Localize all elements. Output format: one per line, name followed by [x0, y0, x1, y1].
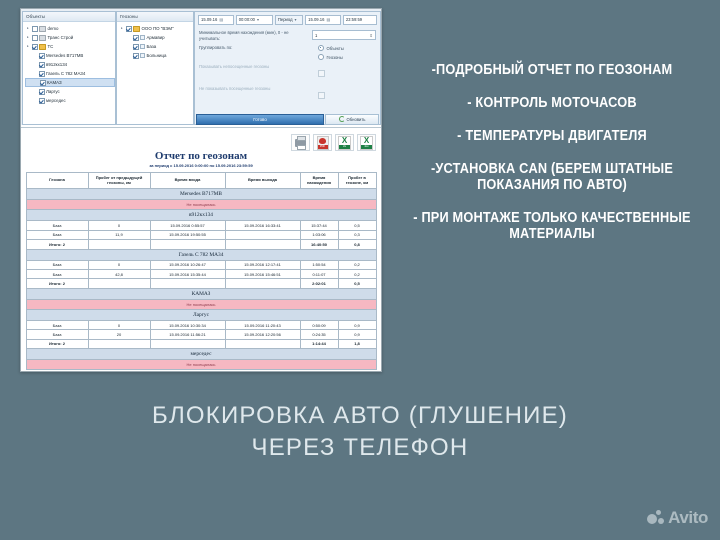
report-subtitle: за период с 15.09.2016 0:00:00 по 15.09.…	[21, 163, 381, 168]
geozone-tree-item[interactable]: ▸ООО ПО "ВЭМ"	[119, 24, 193, 33]
tagline-line-2: ЧЕРЕЗ ТЕЛЕФОН	[0, 432, 720, 464]
table-group-row: Mersedes B717MB	[26, 189, 376, 200]
table-column-header: Время выхода	[225, 173, 300, 189]
table-total-cell	[88, 279, 150, 288]
table-total-cell: 2:02:01	[300, 279, 338, 288]
chevron-down-icon[interactable]: ▾	[257, 16, 259, 24]
table-group-row: КАМАЗ	[26, 288, 376, 299]
table-cell: 0,2	[338, 260, 376, 269]
table-column-header: Пробег в геозоне, км	[338, 173, 376, 189]
table-body: Mersedes B717MBНе посещаласьв912кх134Баз…	[26, 189, 376, 370]
table-total-cell: Итого: 2	[26, 339, 88, 348]
checkbox-icon[interactable]	[39, 71, 45, 77]
checkbox-icon[interactable]	[32, 44, 38, 50]
geozone-tree-item-label: Армавир	[147, 33, 165, 42]
group-name: Ларгус	[26, 309, 376, 320]
radio-option-objects[interactable]: Объекты	[318, 45, 376, 51]
parameters-button-bar: Готово Обновить	[195, 114, 380, 124]
not-visited-row: Не посещалась	[26, 359, 376, 369]
done-button[interactable]: Готово	[196, 114, 324, 125]
geozones-panel: Геозоны ▸ООО ПО "ВЭМ"АрмавирБазаБольница	[116, 11, 194, 125]
avito-watermark: Avito	[647, 508, 708, 528]
refresh-button-label: Обновить	[347, 117, 366, 122]
table-cell: База	[26, 221, 88, 230]
table-cell: 15.09.2016 15:35:44	[150, 269, 225, 278]
print-icon[interactable]	[291, 134, 310, 151]
calendar-icon[interactable]: ▤	[219, 16, 223, 24]
excel-xls-icon[interactable]: Xxls	[335, 134, 354, 151]
report-area: Xxls Xxlsx Отчет по геозонам за период с…	[21, 127, 381, 372]
checkbox-icon[interactable]	[39, 98, 45, 104]
geozone-tree-item-label: Больница	[147, 51, 167, 60]
radio-icon[interactable]	[318, 54, 324, 60]
time-from-input[interactable]: 00:00:00 ▾	[236, 15, 273, 25]
table-cell: База	[26, 330, 88, 339]
object-tree-item-label: Транс Строй	[48, 33, 74, 42]
table-total-cell: 16:40:50	[300, 240, 338, 249]
folder-icon	[39, 44, 46, 50]
time-to-value: 23:59:59	[346, 16, 362, 24]
show-unvisited-row[interactable]: Показывать непосещенные геозоны	[199, 64, 376, 82]
table-cell: 15.09.2016 10:30:34	[150, 320, 225, 329]
promo-bullet: - КОНТРОЛЬ МОТОЧАСОВ	[411, 95, 693, 111]
object-tree-item[interactable]: КАМАЗ	[25, 78, 115, 87]
geozone-tree-item-label: ООО ПО "ВЭМ"	[142, 24, 174, 33]
table-cell: 15.09.2016 11:56:21	[150, 330, 225, 339]
time-from-value: 00:00:00	[239, 16, 255, 24]
date-to-input[interactable]: 15.09.16 ▤	[305, 15, 341, 25]
table-total-cell	[150, 279, 225, 288]
object-tree-item-label: КАМАЗ	[47, 79, 62, 86]
group-name: мерседес	[26, 348, 376, 359]
radio-option-geozones[interactable]: Геозоны	[318, 54, 376, 60]
folder-icon	[133, 26, 140, 32]
table-row: База015.09.2016 10:30:3415.09.2016 11:20…	[26, 320, 376, 329]
geozone-tree-item[interactable]: Армавир	[119, 33, 193, 42]
group-name: в912кх134	[26, 210, 376, 221]
table-cell: 15.09.2016 0:55:57	[150, 221, 225, 230]
not-visited-row: Не посещалась	[26, 299, 376, 309]
table-group-row: Ларгус	[26, 309, 376, 320]
table-cell: 0	[88, 260, 150, 269]
min-stay-stepper[interactable]: 1 ⇳	[312, 30, 376, 40]
table-cell: 15.09.2016 15:46:51	[225, 269, 300, 278]
table-cell: 15:37:44	[300, 221, 338, 230]
promo-bullet: -УСТАНОВКА CAN (БЕРЕМ ШТАТНЫЕ ПОКАЗАНИЯ …	[411, 161, 693, 193]
refresh-icon	[339, 116, 345, 122]
geozones-panel-header: Геозоны	[117, 12, 193, 22]
checkbox-icon[interactable]	[39, 62, 45, 68]
geozone-icon	[140, 44, 145, 49]
table-total-cell	[225, 240, 300, 249]
excel-xlsx-label: xlsx	[361, 145, 372, 149]
expand-arrow-icon[interactable]: ▸	[121, 24, 124, 33]
geozone-tree-item-label: База	[147, 42, 157, 51]
app-toolbar-area: Объекты ▸demo▸Транс Строй▸ТСMersedes B71…	[21, 9, 381, 125]
not-visited-label: Не посещалась	[26, 200, 376, 210]
radio-option-objects-label: Объекты	[327, 46, 344, 51]
avito-logo-icon	[647, 510, 664, 526]
group-name: Газель С 782 МА34	[26, 249, 376, 260]
object-tree-item[interactable]: ▸demo	[25, 24, 115, 33]
period-label: Период	[278, 16, 293, 24]
table-total-cell: 1,8	[338, 339, 376, 348]
table-cell: 15.09.2016 10:26:47	[150, 260, 225, 269]
excel-xls-label: xls	[339, 145, 350, 149]
checkbox-icon[interactable]	[39, 89, 45, 95]
show-unvisited-label: Показывать непосещенные геозоны	[199, 64, 269, 70]
table-total-cell: 1:14:44	[300, 339, 338, 348]
table-column-header: Пробег от предыдущей геозоны, км	[88, 173, 150, 189]
object-tree-item-label: demo	[48, 24, 59, 33]
not-visited-label: Не посещалась	[26, 299, 376, 309]
geozone-tree-item[interactable]: База	[119, 42, 193, 51]
table-cell: 15.09.2016 16:33:41	[225, 221, 300, 230]
table-column-header: Геозона	[26, 173, 88, 189]
geozone-tree-item[interactable]: Больница	[119, 51, 193, 60]
min-stay-value: 1	[315, 33, 317, 38]
folder-icon	[39, 35, 46, 41]
table-total-cell: 0,5	[338, 279, 376, 288]
object-tree-item[interactable]: Газель С 782 МА34	[25, 69, 115, 78]
table-group-row: в912кх134	[26, 210, 376, 221]
table-cell: 0,9	[338, 320, 376, 329]
objects-tree[interactable]: ▸demo▸Транс Строй▸ТСMersedes B717MBв912к…	[23, 22, 115, 105]
table-cell: 20	[88, 330, 150, 339]
show-unvisited-checkbox[interactable]	[318, 70, 325, 77]
object-tree-item-label: ТС	[48, 42, 54, 51]
report-parameters-panel: 15.09.16 ▤ 00:00:00 ▾ Период ▾ 15.09.16 …	[194, 11, 381, 125]
promo-bullet-list: -ПОДРОБНЫЙ ОТЧЕТ ПО ГЕОЗОНАМ- КОНТРОЛЬ М…	[392, 62, 712, 259]
checkbox-icon[interactable]	[133, 44, 139, 50]
table-cell	[225, 230, 300, 239]
expand-arrow-icon[interactable]: ▸	[27, 33, 30, 42]
object-tree-item[interactable]: мерседес	[25, 96, 115, 105]
min-stay-row: Минимальное время нахождения (мин), 0 - …	[199, 30, 376, 41]
table-cell: 0	[88, 320, 150, 329]
table-cell: 0:50:09	[300, 320, 338, 329]
hide-visited-checkbox[interactable]	[318, 92, 325, 99]
hide-visited-row[interactable]: Не показывать посещенные геозоны	[199, 86, 376, 104]
checkbox-icon[interactable]	[39, 53, 45, 59]
table-cell: 15.09.2016 12:17:41	[225, 260, 300, 269]
object-tree-item[interactable]: ▸ТС	[25, 42, 115, 51]
table-total-cell: Итого: 2	[26, 240, 88, 249]
group-name: КАМАЗ	[26, 288, 376, 299]
export-toolbar: Xxls Xxlsx	[291, 134, 376, 151]
time-to-input[interactable]: 23:59:59	[343, 15, 377, 25]
table-column-header: Время нахождения	[300, 173, 338, 189]
object-tree-item-label: в912кх134	[46, 60, 67, 69]
table-total-cell	[225, 279, 300, 288]
geozones-tree[interactable]: ▸ООО ПО "ВЭМ"АрмавирБазаБольница	[117, 22, 193, 60]
folder-icon	[39, 26, 46, 32]
radio-icon[interactable]	[318, 45, 324, 51]
table-total-row: Итого: 21:14:441,8	[26, 339, 376, 348]
object-tree-item-label: мерседес	[46, 96, 66, 105]
table-cell: 0:11:07	[300, 269, 338, 278]
object-tree-item-label: Ларгус	[46, 87, 60, 96]
chevron-down-icon[interactable]: ▾	[295, 16, 297, 24]
table-total-cell: Итого: 2	[26, 279, 88, 288]
date-to-value: 15.09.16	[308, 16, 324, 24]
table-total-cell	[150, 339, 225, 348]
table-cell: 15.09.2016 11:20:43	[225, 320, 300, 329]
table-cell: 0,5	[338, 221, 376, 230]
table-column-header: Время входа	[150, 173, 225, 189]
object-tree-item[interactable]: Ларгус	[25, 87, 115, 96]
object-tree-item[interactable]: ▸Транс Строй	[25, 33, 115, 42]
table-cell: База	[26, 260, 88, 269]
tagline-line-1: БЛОКИРОВКА АВТО (ГЛУШЕНИЕ)	[0, 400, 720, 432]
stepper-arrows-icon[interactable]: ⇳	[369, 33, 373, 38]
table-cell: 0,3	[338, 230, 376, 239]
table-cell: База	[26, 320, 88, 329]
checkbox-icon[interactable]	[133, 53, 139, 59]
table-group-row: Газель С 782 МА34	[26, 249, 376, 260]
hide-visited-label: Не показывать посещенные геозоны	[199, 86, 270, 92]
table-cell: 15.09.2016 12:20:56	[225, 330, 300, 339]
checkbox-icon[interactable]	[40, 80, 46, 86]
group-name: Mersedes B717MB	[26, 189, 376, 200]
group-by-label: Группировать по:	[199, 45, 232, 51]
table-cell: 0,2	[338, 269, 376, 278]
app-screenshot: Объекты ▸demo▸Транс Строй▸ТСMersedes B71…	[20, 8, 382, 372]
table-cell: База	[26, 269, 88, 278]
parameters-body: Минимальное время нахождения (мин), 0 - …	[195, 25, 380, 104]
table-total-row: Итого: 216:40:500,8	[26, 240, 376, 249]
geozone-report-table: ГеозонаПробег от предыдущей геозоны, кмВ…	[26, 172, 377, 370]
table-cell: 42,8	[88, 269, 150, 278]
refresh-button[interactable]: Обновить	[325, 114, 379, 125]
object-tree-item[interactable]: в912кх134	[25, 60, 115, 69]
avito-watermark-text: Avito	[668, 508, 708, 528]
table-total-cell	[88, 339, 150, 348]
geozone-icon	[140, 53, 145, 58]
table-row: База2015.09.2016 11:56:2115.09.2016 12:2…	[26, 330, 376, 339]
radio-option-geozones-label: Геозоны	[327, 55, 343, 60]
table-row: База015.09.2016 10:26:4715.09.2016 12:17…	[26, 260, 376, 269]
not-visited-label: Не посещалась	[26, 359, 376, 369]
expand-arrow-icon[interactable]: ▸	[27, 24, 30, 33]
expand-arrow-icon[interactable]: ▸	[27, 42, 30, 51]
table-total-cell	[88, 240, 150, 249]
objects-panel: Объекты ▸demo▸Транс Строй▸ТСMersedes B71…	[22, 11, 116, 125]
table-cell: 1:50:54	[300, 260, 338, 269]
object-tree-item-label: Газель С 782 МА34	[46, 69, 85, 78]
promo-bullet: -ПОДРОБНЫЙ ОТЧЕТ ПО ГЕОЗОНАМ	[411, 62, 693, 78]
promo-tagline: БЛОКИРОВКА АВТО (ГЛУШЕНИЕ) ЧЕРЕЗ ТЕЛЕФОН	[0, 400, 720, 464]
date-from-input[interactable]: 15.09.16 ▤	[198, 15, 234, 25]
pdf-icon[interactable]	[313, 134, 332, 151]
excel-xlsx-icon[interactable]: Xxlsx	[357, 134, 376, 151]
table-total-cell	[150, 240, 225, 249]
checkbox-icon[interactable]	[32, 26, 38, 32]
date-range-row: 15.09.16 ▤ 00:00:00 ▾ Период ▾ 15.09.16 …	[195, 12, 380, 25]
checkbox-icon[interactable]	[133, 35, 139, 41]
table-cell: 0:24:35	[300, 330, 338, 339]
table-cell: 0,9	[338, 330, 376, 339]
date-from-value: 15.09.16	[201, 16, 217, 24]
table-cell: 15.09.2016 19:50:55	[150, 230, 225, 239]
table-cell: 11,9	[88, 230, 150, 239]
checkbox-icon[interactable]	[126, 26, 132, 32]
promo-bullet: - ТЕМПЕРАТУРЫ ДВИГАТЕЛЯ	[411, 128, 693, 144]
object-tree-item-label: Mersedes B717MB	[46, 51, 83, 60]
table-cell: 1:03:06	[300, 230, 338, 239]
table-cell: 0	[88, 221, 150, 230]
object-tree-item[interactable]: Mersedes B717MB	[25, 51, 115, 60]
promo-bullet: - ПРИ МОНТАЖЕ ТОЛЬКО КАЧЕСТВЕННЫЕ МАТЕРИ…	[411, 210, 693, 242]
group-by-radios[interactable]: Объекты Геозоны	[318, 45, 376, 60]
group-by-row: Группировать по: Объекты Геозоны	[199, 45, 376, 60]
period-select[interactable]: Период ▾	[275, 15, 303, 25]
table-row: База015.09.2016 0:55:5715.09.2016 16:33:…	[26, 221, 376, 230]
table-row: База42,815.09.2016 15:35:4415.09.2016 15…	[26, 269, 376, 278]
table-header-row: ГеозонаПробег от предыдущей геозоны, кмВ…	[26, 173, 376, 189]
table-group-row: мерседес	[26, 348, 376, 359]
not-visited-row: Не посещалась	[26, 200, 376, 210]
table-row: База11,915.09.2016 19:50:551:03:060,3	[26, 230, 376, 239]
table-cell: База	[26, 230, 88, 239]
table-total-row: Итого: 22:02:010,5	[26, 279, 376, 288]
table-total-cell: 0,8	[338, 240, 376, 249]
objects-panel-header: Объекты	[23, 12, 115, 22]
min-stay-label: Минимальное время нахождения (мин), 0 - …	[199, 30, 304, 41]
geozone-icon	[140, 35, 145, 40]
checkbox-icon[interactable]	[32, 35, 38, 41]
calendar-icon[interactable]: ▤	[326, 16, 330, 24]
report-title: Отчет по геозонам	[21, 150, 381, 162]
table-total-cell	[225, 339, 300, 348]
